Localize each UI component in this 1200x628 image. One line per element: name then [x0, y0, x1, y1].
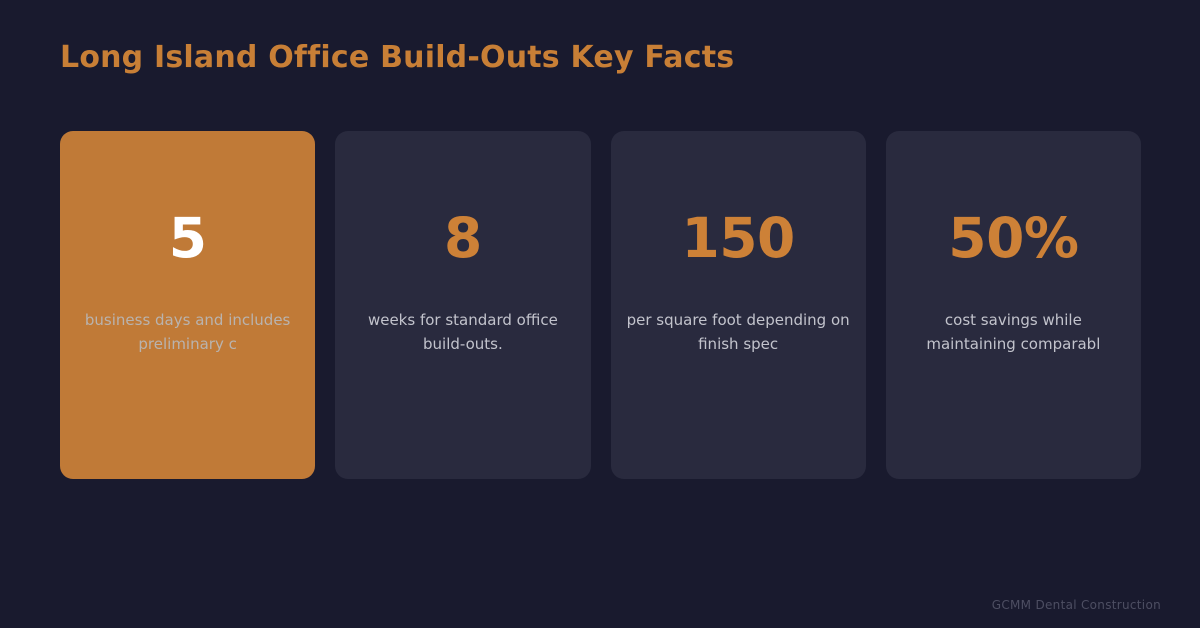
footer-brand: GCMM Dental Construction — [992, 597, 1161, 613]
stat-label: business days and includes preliminary c — [74, 308, 301, 356]
stat-value: 5 — [60, 207, 315, 269]
stat-card[interactable]: 50% cost savings while maintaining compa… — [886, 131, 1141, 479]
stat-cards-row: 5 business days and includes preliminary… — [60, 131, 1141, 479]
stat-value: 8 — [335, 207, 590, 269]
stat-label: cost savings while maintaining comparabl — [900, 308, 1127, 356]
slide-canvas: Long Island Office Build-Outs Key Facts … — [0, 0, 1200, 628]
stat-card[interactable]: 8 weeks for standard office build-outs. — [335, 131, 590, 479]
stat-label: per square foot depending on finish spec — [625, 308, 852, 356]
stat-value: 150 — [611, 207, 866, 269]
stat-value: 50% — [886, 207, 1141, 269]
stat-label: weeks for standard office build-outs. — [349, 308, 576, 356]
stat-card[interactable]: 150 per square foot depending on finish … — [611, 131, 866, 479]
page-title: Long Island Office Build-Outs Key Facts — [60, 38, 734, 78]
stat-card[interactable]: 5 business days and includes preliminary… — [60, 131, 315, 479]
